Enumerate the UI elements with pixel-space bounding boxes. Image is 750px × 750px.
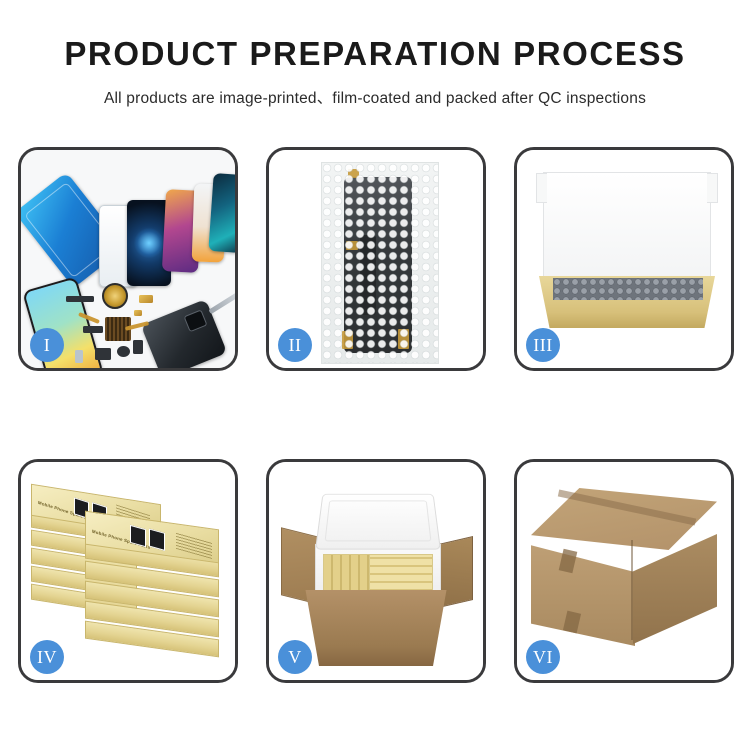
process-panel-2[interactable]: II — [266, 147, 486, 371]
carton-body — [301, 590, 451, 666]
panel-badge-4: IV — [30, 640, 64, 674]
foam-lid — [315, 494, 441, 550]
small-chip-3 — [95, 348, 111, 360]
process-panel-grid: I II — [18, 147, 732, 683]
small-chip-5 — [133, 340, 143, 354]
process-panel-3[interactable]: III — [514, 147, 734, 371]
bubble-wrap-bag — [321, 162, 439, 364]
page-title: PRODUCT PREPARATION PROCESS — [0, 36, 750, 72]
panel-badge-1: I — [30, 328, 64, 362]
small-chip-1 — [66, 296, 94, 302]
panel-badge-3: III — [526, 328, 560, 362]
process-panel-1[interactable]: I — [18, 147, 238, 371]
small-chip-4 — [117, 346, 130, 357]
box-swatch-r2 — [149, 528, 165, 550]
panel-badge-5: V — [278, 640, 312, 674]
speaker-coil-part — [102, 283, 128, 309]
process-panel-4[interactable]: Mobile Phone Spare Parts Mobile Phone Sp… — [18, 459, 238, 683]
white-box-lid — [543, 172, 711, 282]
carton-corner-edge — [631, 540, 633, 640]
panel-badge-6: VI — [526, 640, 560, 674]
process-panel-6[interactable]: VI — [514, 459, 734, 683]
page-header: PRODUCT PREPARATION PROCESS All products… — [0, 0, 750, 108]
bubble-wrapped-contents — [553, 278, 703, 300]
page-subtitle: All products are image-printed、film-coat… — [0, 86, 750, 108]
panel-badge-2: II — [278, 328, 312, 362]
gold-connector-2 — [134, 310, 142, 316]
gold-connector-1 — [139, 295, 153, 303]
teal-wave-phone — [208, 173, 235, 253]
process-panel-5[interactable]: V — [266, 459, 486, 683]
small-chip-2 — [83, 326, 103, 333]
small-chip-6 — [75, 350, 83, 363]
box-text-lines-right — [176, 532, 212, 559]
